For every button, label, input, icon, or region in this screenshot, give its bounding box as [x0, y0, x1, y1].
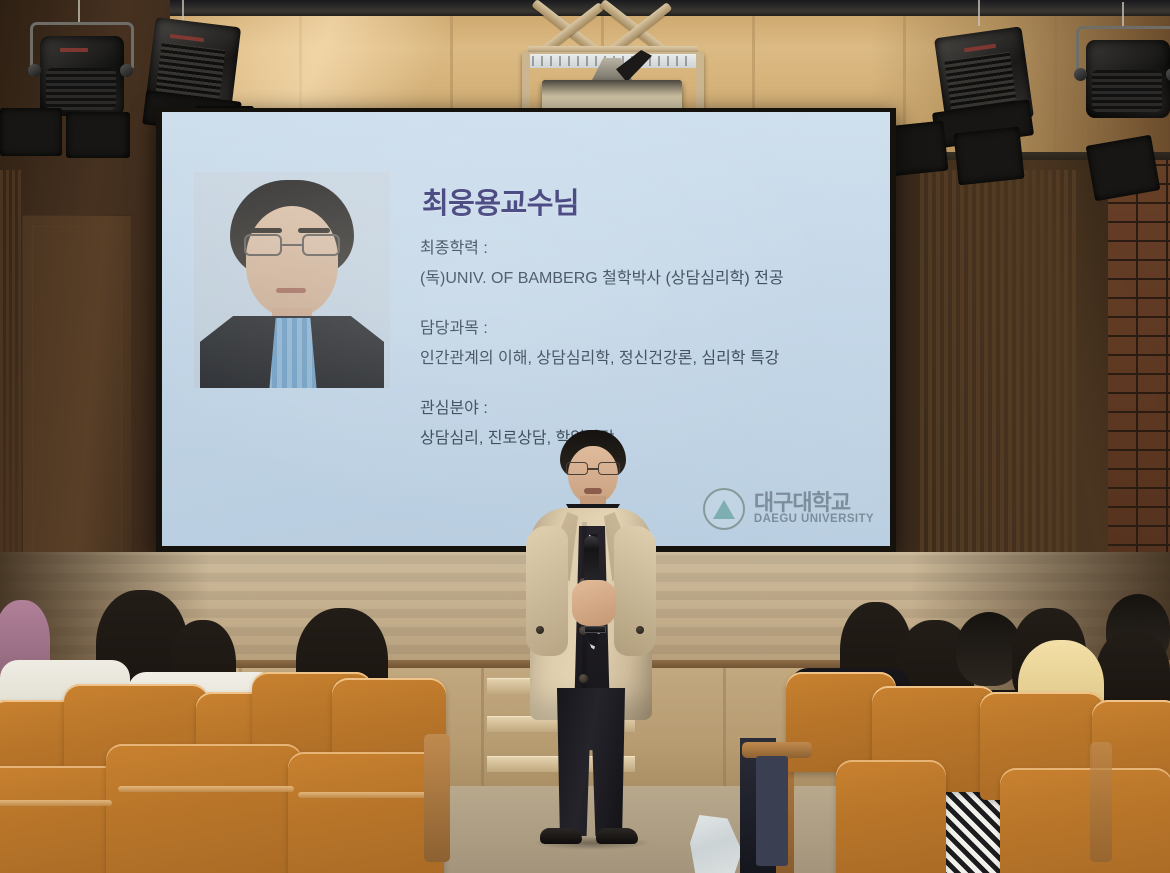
slide-label-education: 최종학력 :	[420, 234, 870, 258]
presenter-mouth	[584, 488, 602, 494]
seat-side-panel	[756, 756, 788, 866]
presenter-hands	[572, 580, 616, 626]
presenter-glasses	[566, 462, 620, 475]
presenter-cuff-button-right	[636, 626, 644, 634]
presenter-shoe-left	[540, 828, 582, 844]
presenter-arm-left	[526, 526, 568, 656]
side-door[interactable]	[22, 215, 132, 570]
stage-light-silhouette-5	[956, 130, 1028, 186]
auditorium-scene: 최웅용교수님 최종학력 : (독)UNIV. OF BAMBERG 철학박사 (…	[0, 0, 1170, 873]
portrait-glasses	[244, 234, 340, 256]
slide-label-interests: 관심분야 :	[420, 394, 870, 418]
slide-group-education: 최종학력 : (독)UNIV. OF BAMBERG 철학박사 (상담심리학) …	[420, 234, 870, 288]
portrait-mouth	[276, 288, 306, 293]
left-acoustic-ribs	[0, 170, 24, 590]
presenter-coat-button-3	[579, 674, 588, 683]
university-logo-text: 대구대학교 DAEGU UNIVERSITY	[754, 492, 874, 526]
university-logo: 대구대학교 DAEGU UNIVERSITY	[703, 488, 874, 530]
slide-text-education: (독)UNIV. OF BAMBERG 철학박사 (상담심리학) 전공	[420, 264, 870, 288]
professor-portrait-photo	[194, 172, 390, 388]
stage-light-silhouette-6	[1090, 140, 1162, 202]
stage-light-fresnel-right	[1070, 10, 1170, 140]
university-emblem-icon	[703, 488, 745, 530]
slide-title: 최웅용교수님	[422, 180, 579, 222]
auditorium-seat[interactable]	[288, 752, 444, 873]
presenter	[510, 430, 670, 850]
emblem-triangle-shape	[713, 500, 735, 519]
auditorium-seat[interactable]	[106, 744, 302, 873]
portrait-brow-right	[298, 228, 330, 233]
auditorium-seat[interactable]	[836, 760, 946, 873]
slide-label-courses: 담당과목 :	[420, 314, 870, 338]
seat-back-highlight	[298, 792, 438, 798]
presenter-arm-right	[614, 526, 656, 656]
seat-back-highlight	[118, 786, 294, 792]
auditorium-seat[interactable]	[1000, 768, 1170, 873]
stage-light-silhouette-1	[0, 108, 70, 160]
slide-text-courses: 인간관계의 이해, 상담심리학, 정신건강론, 심리학 특강	[420, 344, 870, 368]
seat-armrest	[424, 734, 450, 862]
auditorium-seat[interactable]	[0, 766, 120, 873]
seat-armrest	[1090, 742, 1112, 862]
presenter-shoe-right	[596, 828, 638, 844]
portrait-brow-left	[250, 228, 282, 233]
slide-group-courses: 담당과목 : 인간관계의 이해, 상담심리학, 정신건강론, 심리학 특강	[420, 314, 870, 368]
portrait-face	[246, 206, 338, 318]
university-name-korean: 대구대학교	[754, 492, 874, 514]
presenter-cuff-button-left	[536, 626, 544, 634]
university-name-english: DAEGU UNIVERSITY	[754, 514, 874, 526]
presenter-tie-clip	[584, 626, 606, 633]
seat-back-highlight	[0, 800, 112, 806]
stage-light-silhouette-2	[66, 112, 136, 162]
presenter-trousers	[554, 688, 628, 836]
